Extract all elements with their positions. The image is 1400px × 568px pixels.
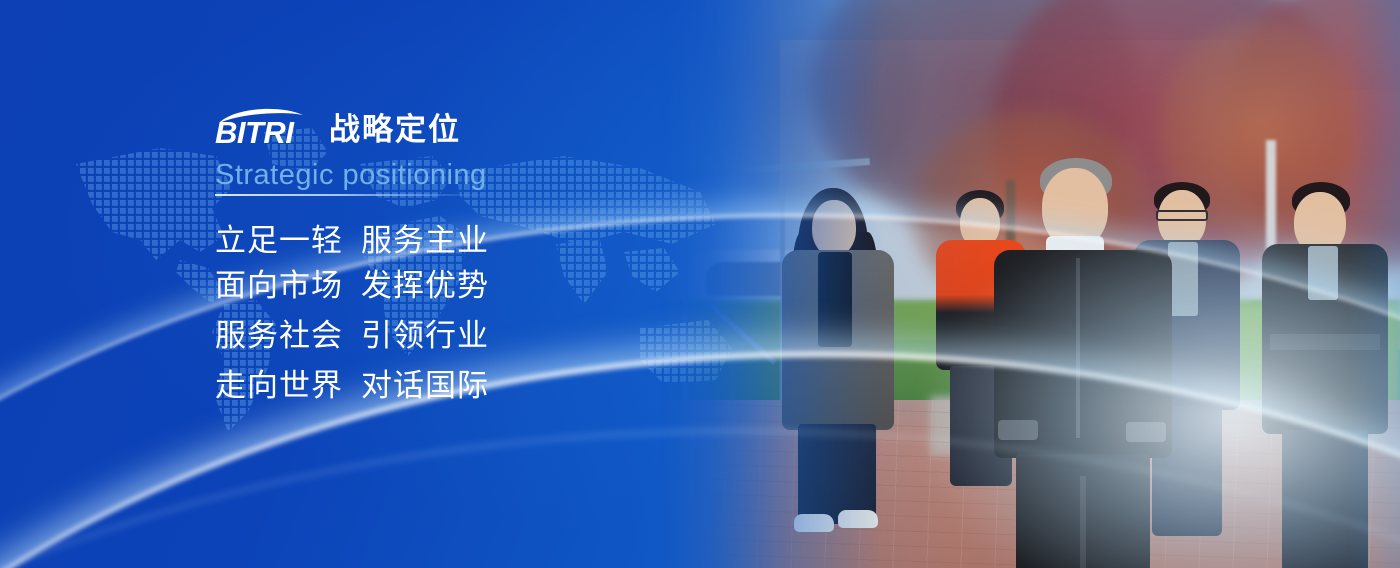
slogan-list: 立足一轻 服务主业 面向市场 发挥优势 服务社会 引领行业 走向世界 对话国际 bbox=[215, 218, 735, 408]
slogan-line: 服务社会 引领行业 bbox=[215, 313, 735, 358]
slogan-line: 立足一轻 服务主业 bbox=[215, 218, 735, 263]
slogan-right: 对话国际 bbox=[361, 363, 489, 408]
slogan-right: 服务主业 bbox=[361, 218, 489, 263]
slogan-right: 发挥优势 bbox=[361, 263, 489, 308]
slogan-line: 面向市场 发挥优势 bbox=[215, 263, 735, 308]
slogan-left: 走向世界 bbox=[215, 363, 361, 408]
bitri-logo-text: BITRI bbox=[215, 112, 293, 154]
banner-text-block: BITRI 战略定位 Strategic positioning 立足一轻 服务… bbox=[215, 104, 735, 408]
page-subtitle-en: Strategic positioning bbox=[215, 154, 735, 196]
slogan-left: 服务社会 bbox=[215, 313, 361, 358]
slogan-line: 走向世界 对话国际 bbox=[215, 363, 735, 408]
bitri-logo[interactable]: BITRI bbox=[215, 108, 315, 150]
slogan-right: 引领行业 bbox=[361, 313, 489, 358]
page-title-cn: 战略定位 bbox=[329, 110, 461, 150]
slogan-left: 面向市场 bbox=[215, 263, 361, 308]
group-walking-photo bbox=[660, 0, 1400, 568]
strategic-positioning-banner: BITRI 战略定位 Strategic positioning 立足一轻 服务… bbox=[0, 0, 1400, 568]
title-row: BITRI 战略定位 bbox=[215, 104, 735, 150]
slogan-left: 立足一轻 bbox=[215, 218, 361, 263]
